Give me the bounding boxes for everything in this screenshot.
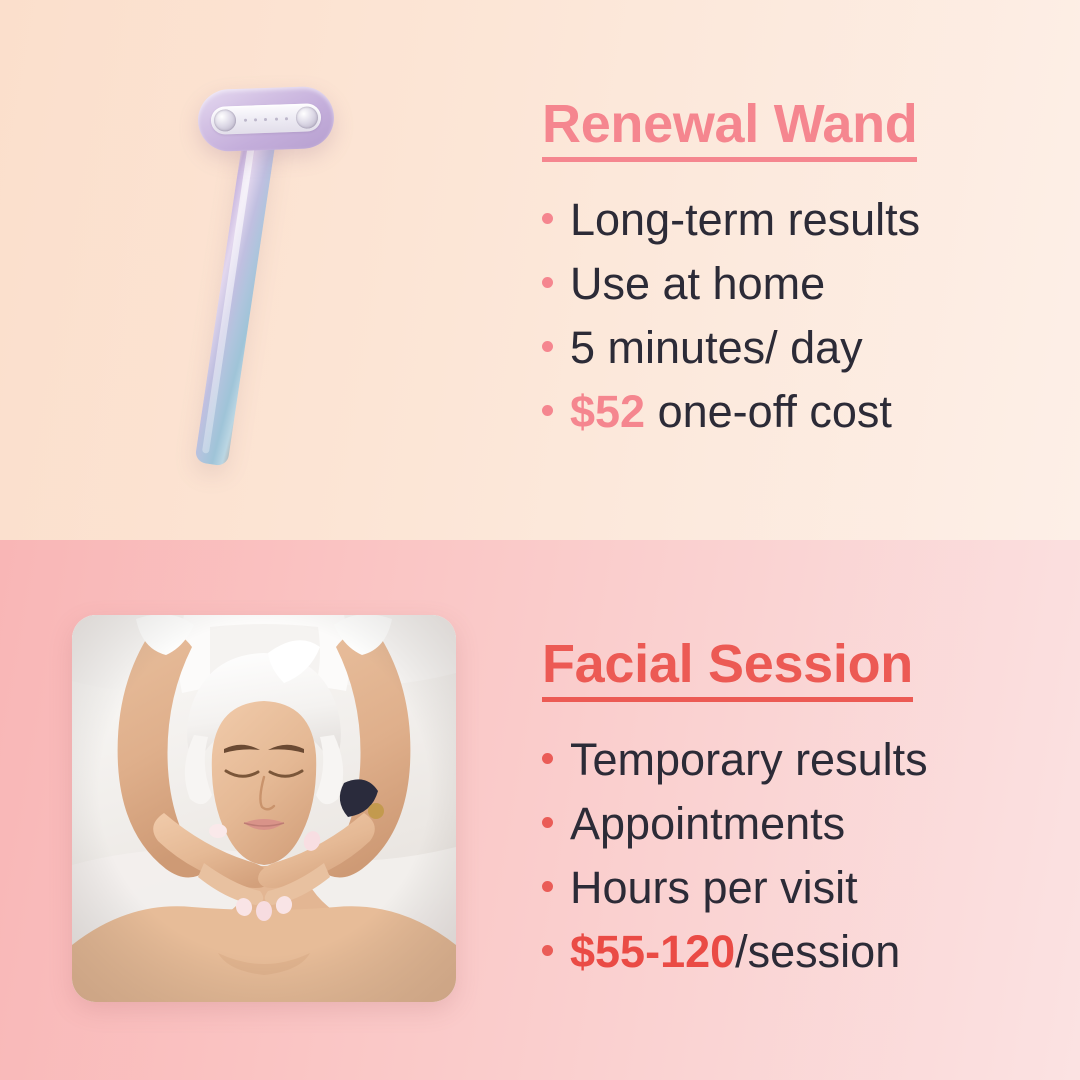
bullet-text: Temporary results — [570, 728, 928, 792]
list-item-price: $52 one-off cost — [542, 380, 1040, 444]
indicator-dot — [285, 117, 288, 120]
bullet-text: 5 minutes/ day — [570, 316, 863, 380]
bullet-dot-icon — [542, 881, 553, 892]
wand-handle — [194, 116, 278, 467]
price-suffix: one-off cost — [645, 386, 892, 437]
bullet-dot-icon — [542, 277, 553, 288]
bullet-dot-icon — [542, 213, 553, 224]
facial-photo-illustration — [72, 615, 456, 1002]
list-item-price: $55-120/session — [542, 920, 1040, 984]
bullet-text: Appointments — [570, 792, 845, 856]
comparison-graphic: Renewal Wand Long-term results Use at ho… — [0, 0, 1080, 1080]
skincare-wand-device-icon — [186, 58, 366, 478]
list-item: Hours per visit — [542, 856, 1040, 920]
bullet-dot-icon — [542, 341, 553, 352]
facial-session-card: Facial Session Temporary results Appoint… — [0, 540, 1080, 1080]
renewal-wand-bullet-list: Long-term results Use at home 5 minutes/… — [542, 188, 1040, 444]
facial-media-column — [0, 540, 520, 1080]
facial-massage-photo-icon — [72, 615, 456, 1002]
wand-media-column — [0, 0, 520, 540]
bullet-text: Use at home — [570, 252, 825, 316]
electrode-right-icon — [296, 106, 319, 129]
facial-session-bullet-list: Temporary results Appointments Hours per… — [542, 728, 1040, 984]
price-value: $52 — [570, 386, 645, 437]
renewal-wand-title: Renewal Wand — [542, 96, 917, 162]
list-item: 5 minutes/ day — [542, 316, 1040, 380]
facial-text-column: Facial Session Temporary results Appoint… — [520, 636, 1080, 984]
bullet-dot-icon — [542, 405, 553, 416]
wand-head — [197, 86, 335, 153]
indicator-dot — [264, 117, 267, 120]
list-item: Appointments — [542, 792, 1040, 856]
bullet-text-group: $55-120/session — [570, 920, 900, 984]
price-suffix: /session — [735, 926, 900, 977]
wand-electrode-plate — [211, 103, 322, 135]
list-item: Temporary results — [542, 728, 1040, 792]
bullet-text: Long-term results — [570, 188, 920, 252]
facial-session-title: Facial Session — [542, 636, 913, 702]
bullet-dot-icon — [542, 753, 553, 764]
wand-indicator-marks — [240, 116, 292, 123]
bullet-text: Hours per visit — [570, 856, 858, 920]
price-value: $55-120 — [570, 926, 735, 977]
indicator-dot — [275, 117, 278, 120]
list-item: Long-term results — [542, 188, 1040, 252]
bullet-text-group: $52 one-off cost — [570, 380, 892, 444]
electrode-left-icon — [214, 109, 237, 132]
list-item: Use at home — [542, 252, 1040, 316]
indicator-dot — [244, 118, 247, 121]
indicator-dot — [254, 118, 257, 121]
bullet-dot-icon — [542, 817, 553, 828]
renewal-wand-card: Renewal Wand Long-term results Use at ho… — [0, 0, 1080, 540]
wand-text-column: Renewal Wand Long-term results Use at ho… — [520, 96, 1080, 444]
bullet-dot-icon — [542, 945, 553, 956]
